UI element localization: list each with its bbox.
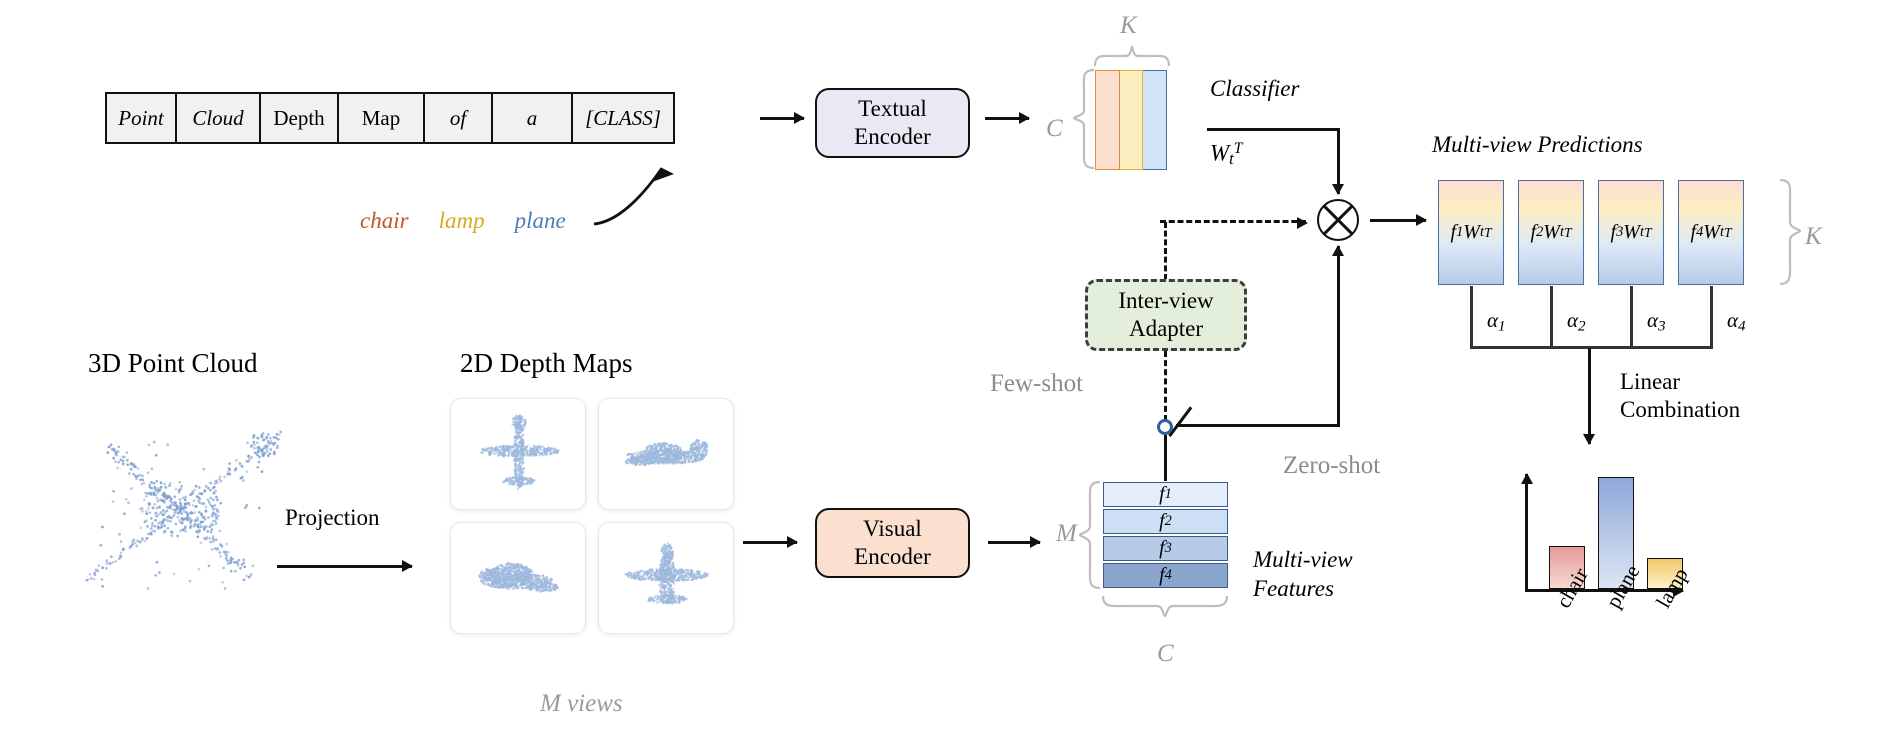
prompt-token-class: [CLASS] <box>573 94 673 142</box>
arrow-prompt-to-textual-encoder <box>760 117 804 120</box>
class-word-plane: plane <box>515 208 566 234</box>
alpha-index: 4 <box>1738 318 1746 334</box>
features-c-brace <box>1101 594 1229 618</box>
classifier-column-1 <box>1095 70 1120 170</box>
multi-view-prediction-row: f1WtT f2WtT f3WtT f4WtT <box>1438 180 1744 285</box>
prediction-box-1: f1WtT <box>1438 180 1504 285</box>
point-cloud-section-title: 3D Point Cloud <box>88 348 258 379</box>
arrow-textual-encoder-to-classifier <box>985 117 1029 120</box>
inter-view-adapter-block: Inter-view Adapter <box>1085 279 1247 351</box>
arrow-depthmaps-to-visual-encoder <box>743 541 797 544</box>
pred-f-index: 2 <box>1536 224 1543 241</box>
pred-w-sup: T <box>1484 225 1492 241</box>
classifier-k-brace <box>1093 44 1171 68</box>
alpha-label-2: α2 <box>1567 308 1586 335</box>
prompt-token-row: Point Cloud Depth Map of a [CLASS] <box>105 92 675 144</box>
depth-map-card-1 <box>450 398 586 510</box>
m-views-caption: M views <box>540 690 623 718</box>
depth-map-card-4 <box>598 522 734 634</box>
depth-map-card-2 <box>598 398 734 510</box>
feature-row-f2: f2 <box>1103 509 1228 534</box>
prompt-token-point: Point <box>107 94 177 142</box>
textual-encoder-line2: Encoder <box>854 123 931 151</box>
feature-row-f1: f1 <box>1103 482 1228 507</box>
pred-w-sup: T <box>1564 225 1572 241</box>
alpha-symbol: α <box>1727 308 1738 332</box>
prompt-token-of: of <box>425 94 493 142</box>
depth-maps-section-title: 2D Depth Maps <box>460 348 632 379</box>
linear-combination-caption: Linear Combination <box>1620 368 1740 424</box>
class-word-lamp: lamp <box>439 208 485 234</box>
classifier-column-2 <box>1120 70 1144 170</box>
alpha-drop-4 <box>1710 286 1713 348</box>
point-cloud-visual <box>68 405 298 605</box>
tensor-product-operator-icon <box>1317 199 1359 241</box>
features-dim-label-c: C <box>1157 640 1174 668</box>
feature-row-f3: f3 <box>1103 536 1228 561</box>
pred-w-sup: T <box>1724 225 1732 241</box>
final-prediction-bar-chart: chair plane lamp <box>1525 462 1705 592</box>
multi-view-feature-stack: f1 f2 f3 f4 <box>1103 482 1228 588</box>
prediction-box-4: f4WtT <box>1678 180 1744 285</box>
pred-w: W <box>1623 221 1640 244</box>
pred-w-sup: T <box>1644 225 1652 241</box>
classifier-dim-label-c: C <box>1046 115 1063 143</box>
classifier-weight-matrix <box>1095 70 1167 170</box>
chart-y-axis <box>1525 474 1528 592</box>
alpha-index: 3 <box>1658 318 1666 334</box>
prompt-token-a: a <box>493 94 573 142</box>
arrow-adapter-to-tensor-product <box>1160 220 1306 223</box>
alpha-index: 2 <box>1578 318 1586 334</box>
classifier-caption: Classifier <box>1210 76 1299 102</box>
depth-map-view-top <box>451 399 586 510</box>
adapter-line1: Inter-view <box>1118 287 1213 315</box>
class-word-list: chair lamp plane <box>360 208 566 234</box>
mode-switch-pivot-icon[interactable] <box>1157 419 1173 435</box>
adapter-line2: Adapter <box>1129 315 1203 343</box>
pred-w: W <box>1703 221 1720 244</box>
depth-map-view-front <box>599 523 734 634</box>
prediction-box-3: f3WtT <box>1598 180 1664 285</box>
prompt-token-cloud: Cloud <box>177 94 261 142</box>
classifier-elbow-arrow-down <box>1337 128 1340 194</box>
class-word-chair: chair <box>360 208 409 234</box>
alpha-drop-1 <box>1470 286 1473 348</box>
switch-stem-to-features <box>1164 435 1167 481</box>
feature-index: 3 <box>1165 540 1172 557</box>
alpha-drop-3 <box>1630 286 1633 348</box>
depth-map-card-3 <box>450 522 586 634</box>
feature-index: 2 <box>1165 513 1172 530</box>
linear-comb-line2: Combination <box>1620 396 1740 424</box>
mv-features-line2: Features <box>1253 575 1353 604</box>
mv-features-line1: Multi-view <box>1253 546 1353 575</box>
visual-encoder-block: Visual Encoder <box>815 508 970 578</box>
depth-map-view-oblique <box>451 523 586 634</box>
linear-comb-line1: Linear <box>1620 368 1740 396</box>
multi-view-features-caption: Multi-view Features <box>1253 546 1353 604</box>
classifier-weight-symbol: WtT <box>1210 140 1242 169</box>
prompt-token-map: Map <box>339 94 425 142</box>
weight-w: W <box>1210 141 1229 166</box>
weight-sup-T: T <box>1234 140 1243 157</box>
depth-map-grid <box>450 398 734 634</box>
class-to-token-curved-arrow <box>588 138 708 230</box>
m-views-text: M views <box>540 690 623 717</box>
pred-f-index: 3 <box>1616 224 1623 241</box>
textual-encoder-block: Textual Encoder <box>815 88 970 158</box>
visual-encoder-line2: Encoder <box>854 543 931 571</box>
classifier-elbow-horizontal <box>1207 128 1340 131</box>
depth-map-view-side <box>599 399 734 510</box>
alpha-horizontal-bus <box>1470 346 1713 349</box>
feature-index: 1 <box>1165 486 1172 503</box>
classifier-c-brace <box>1072 68 1096 172</box>
prediction-box-2: f2WtT <box>1518 180 1584 285</box>
feature-index: 4 <box>1165 567 1172 584</box>
alpha-label-3: α3 <box>1647 308 1666 335</box>
zero-shot-label: Zero-shot <box>1283 452 1380 480</box>
alpha-label-4: α4 <box>1727 308 1746 335</box>
alpha-symbol: α <box>1567 308 1578 332</box>
arrow-tensor-product-to-predictions <box>1370 219 1426 222</box>
arrow-linear-combination-down <box>1588 348 1591 444</box>
predictions-k-brace <box>1778 178 1802 288</box>
features-dim-label-m: M <box>1056 520 1077 548</box>
alpha-drop-2 <box>1550 286 1553 348</box>
classifier-column-3 <box>1143 70 1167 170</box>
arrow-visual-encoder-to-features <box>988 541 1040 544</box>
predictions-dim-label-k: K <box>1805 223 1822 251</box>
adapter-dashed-vertical-lower <box>1164 351 1167 421</box>
alpha-symbol: α <box>1487 308 1498 332</box>
alpha-label-1: α1 <box>1487 308 1506 335</box>
feature-row-f4: f4 <box>1103 563 1228 588</box>
pred-w: W <box>1543 221 1560 244</box>
prompt-token-depth: Depth <box>261 94 339 142</box>
zeroshot-path-horizontal <box>1176 424 1340 427</box>
classifier-dim-label-k: K <box>1120 12 1137 40</box>
pred-f-index: 4 <box>1696 224 1703 241</box>
few-shot-label: Few-shot <box>990 370 1083 398</box>
multi-view-predictions-title: Multi-view Predictions <box>1432 132 1643 158</box>
pred-f-index: 1 <box>1456 224 1463 241</box>
adapter-dashed-vertical-upper <box>1164 222 1167 280</box>
textual-encoder-line1: Textual <box>858 95 927 123</box>
pred-w: W <box>1463 221 1480 244</box>
alpha-index: 1 <box>1498 318 1506 334</box>
visual-encoder-line1: Visual <box>863 515 922 543</box>
features-m-brace <box>1078 480 1102 592</box>
alpha-symbol: α <box>1647 308 1658 332</box>
projection-arrow <box>277 565 412 568</box>
diagram-canvas: Point Cloud Depth Map of a [CLASS] chair… <box>0 0 1882 746</box>
arrow-zeroshot-to-tensor-product <box>1337 246 1340 426</box>
projection-label: Projection <box>285 505 380 531</box>
mode-switch-lever[interactable] <box>1168 406 1192 436</box>
